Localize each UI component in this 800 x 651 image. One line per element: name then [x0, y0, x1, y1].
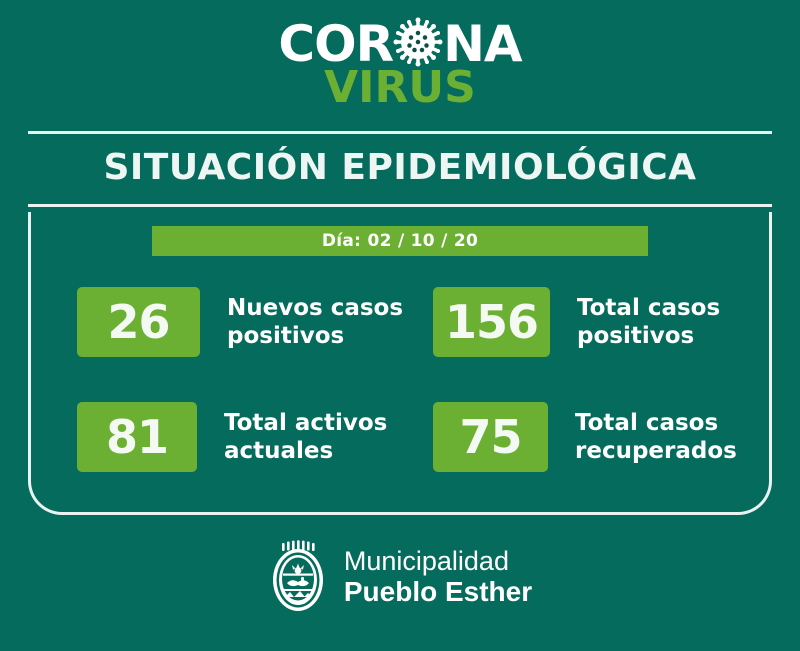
logo-virus-row: VIRUS — [0, 66, 800, 110]
date-banner: Día: 02 / 10 / 20 — [152, 226, 648, 256]
frame-rule-top — [28, 131, 772, 134]
footer-branding: Municipalidad Pueblo Esther — [0, 540, 800, 614]
stat-value: 156 — [445, 299, 538, 345]
logo-corona-text-a: COR — [278, 15, 393, 73]
footer-municipality-label: Municipalidad — [344, 546, 532, 576]
stat-label: Total casos recuperados — [575, 409, 737, 465]
stat-label-line1: Nuevos casos — [227, 294, 403, 322]
stat-label-line1: Total casos — [577, 294, 720, 322]
stat-value-box: 156 — [433, 287, 550, 357]
stat-value-box: 81 — [77, 402, 197, 472]
frame-rule-middle — [28, 204, 772, 207]
stat-label-line2: recuperados — [575, 437, 737, 465]
infographic-page: COR — [0, 0, 800, 651]
logo-corona-row: COR — [278, 18, 521, 70]
stat-label: Nuevos casos positivos — [227, 294, 403, 350]
logo-corona-text-b: NA — [443, 15, 522, 73]
stat-value: 75 — [459, 414, 521, 460]
coronavirus-icon — [393, 17, 443, 67]
coronavirus-logo: COR — [0, 18, 800, 110]
stat-label: Total casos positivos — [577, 294, 720, 350]
stat-label-line2: positivos — [577, 322, 720, 350]
stat-total-active-cases: 81 Total activos actuales — [77, 402, 387, 472]
stat-new-positive-cases: 26 Nuevos casos positivos — [77, 287, 403, 357]
footer-municipality-name: Pueblo Esther — [344, 576, 532, 607]
page-title: SITUACIÓN EPIDEMIOLÓGICA — [0, 147, 800, 188]
stat-total-recovered-cases: 75 Total casos recuperados — [433, 402, 737, 472]
date-banner-label: Día: 02 / 10 / 20 — [322, 231, 478, 251]
stat-value: 81 — [106, 414, 168, 460]
stat-value-box: 26 — [77, 287, 200, 357]
municipal-coat-of-arms-icon — [268, 540, 328, 614]
stat-label-line1: Total casos — [575, 409, 737, 437]
stat-value-box: 75 — [433, 402, 548, 472]
stat-total-positive-cases: 156 Total casos positivos — [433, 287, 720, 357]
footer-text-block: Municipalidad Pueblo Esther — [344, 546, 532, 608]
stat-value: 26 — [107, 299, 169, 345]
stat-label-line1: Total activos — [224, 409, 387, 437]
stat-label: Total activos actuales — [224, 409, 387, 465]
stat-label-line2: actuales — [224, 437, 387, 465]
stat-label-line2: positivos — [227, 322, 403, 350]
